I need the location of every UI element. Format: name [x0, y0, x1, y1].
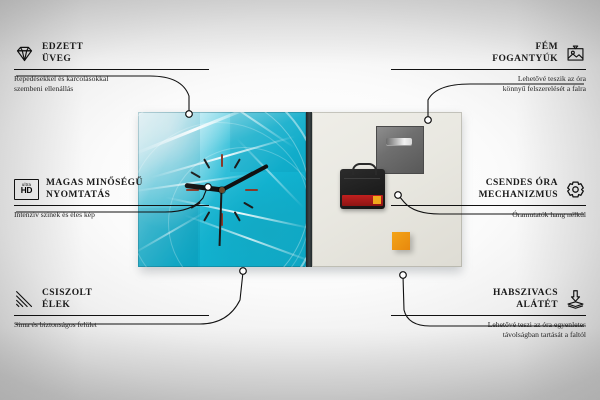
feature-desc-line2: szembeni ellenállás	[14, 84, 209, 94]
feature-tempered-glass: EDZETT ÜVEG Repedésekkel és karcolásokka…	[14, 42, 209, 93]
ultra-hd-icon-main: HD	[21, 187, 32, 195]
feature-title-line2: FOGANTYÚK	[492, 54, 558, 66]
feature-title-line2: ALÁTÉT	[493, 300, 558, 312]
feature-title-line2: NYOMTATÁS	[46, 190, 143, 202]
feature-desc-line1: Intenzív színek és éles kép	[14, 210, 209, 220]
gear-icon	[565, 179, 586, 200]
diamond-icon	[14, 43, 35, 64]
feature-desc-line1: Lehetővé teszi az óra egyenletes	[391, 320, 586, 330]
feature-desc-line1: Lehetővé teszik az óra	[391, 74, 586, 84]
feature-title-line1: CSENDES ÓRA	[479, 178, 558, 190]
feature-high-quality-print: ultra HD MAGAS MINŐSÉGŰ NYOMTATÁS Intenz…	[14, 178, 209, 220]
press-pad-icon	[565, 289, 586, 310]
feature-foam-pad: HABSZIVACS ALÁTÉT Lehetővé teszi az óra …	[391, 288, 586, 339]
feature-desc-line2: távolságban tartását a faltól	[391, 330, 586, 340]
feature-title-line2: MECHANIZMUS	[479, 190, 558, 202]
clock-mechanism	[340, 169, 385, 209]
foam-pad	[392, 232, 410, 250]
feature-polished-edges: CSISZOLT ÉLEK Sima és biztonságos felüle…	[14, 288, 209, 330]
divider	[391, 205, 586, 206]
divider	[14, 315, 209, 316]
feature-desc-line2: könnyű felszerelését a falra	[391, 84, 586, 94]
feature-metal-handles: FÉM FOGANTYÚK Lehetővé teszik az óra kön…	[391, 42, 586, 93]
feature-title-line2: ÉLEK	[42, 300, 92, 312]
feature-title-line1: HABSZIVACS	[493, 288, 558, 300]
divider	[391, 315, 586, 316]
feature-title-line1: MAGAS MINŐSÉGŰ	[46, 178, 143, 190]
polished-edges-icon	[14, 289, 35, 310]
feature-title-line2: ÜVEG	[42, 54, 83, 66]
divider	[391, 69, 586, 70]
feature-desc-line1: Sima és biztonságos felület	[14, 320, 209, 330]
feature-desc-line1: Repedésekkel és karcolásokkal	[14, 74, 209, 84]
divider	[14, 69, 209, 70]
metal-hanger-icon	[376, 126, 424, 174]
feature-title-line1: FÉM	[492, 42, 558, 54]
feature-quiet-mechanism: CSENDES ÓRA MECHANIZMUS Óramutatók hang …	[391, 178, 586, 220]
infographic-canvas: EDZETT ÜVEG Repedésekkel és karcolásokka…	[0, 0, 600, 400]
frame-hanger-icon	[565, 43, 586, 64]
ultra-hd-icon: ultra HD	[14, 179, 39, 200]
feature-title-line1: EDZETT	[42, 42, 83, 54]
divider	[14, 205, 209, 206]
feature-desc-line1: Óramutatók hang nélkül	[391, 210, 586, 220]
feature-title-line1: CSISZOLT	[42, 288, 92, 300]
